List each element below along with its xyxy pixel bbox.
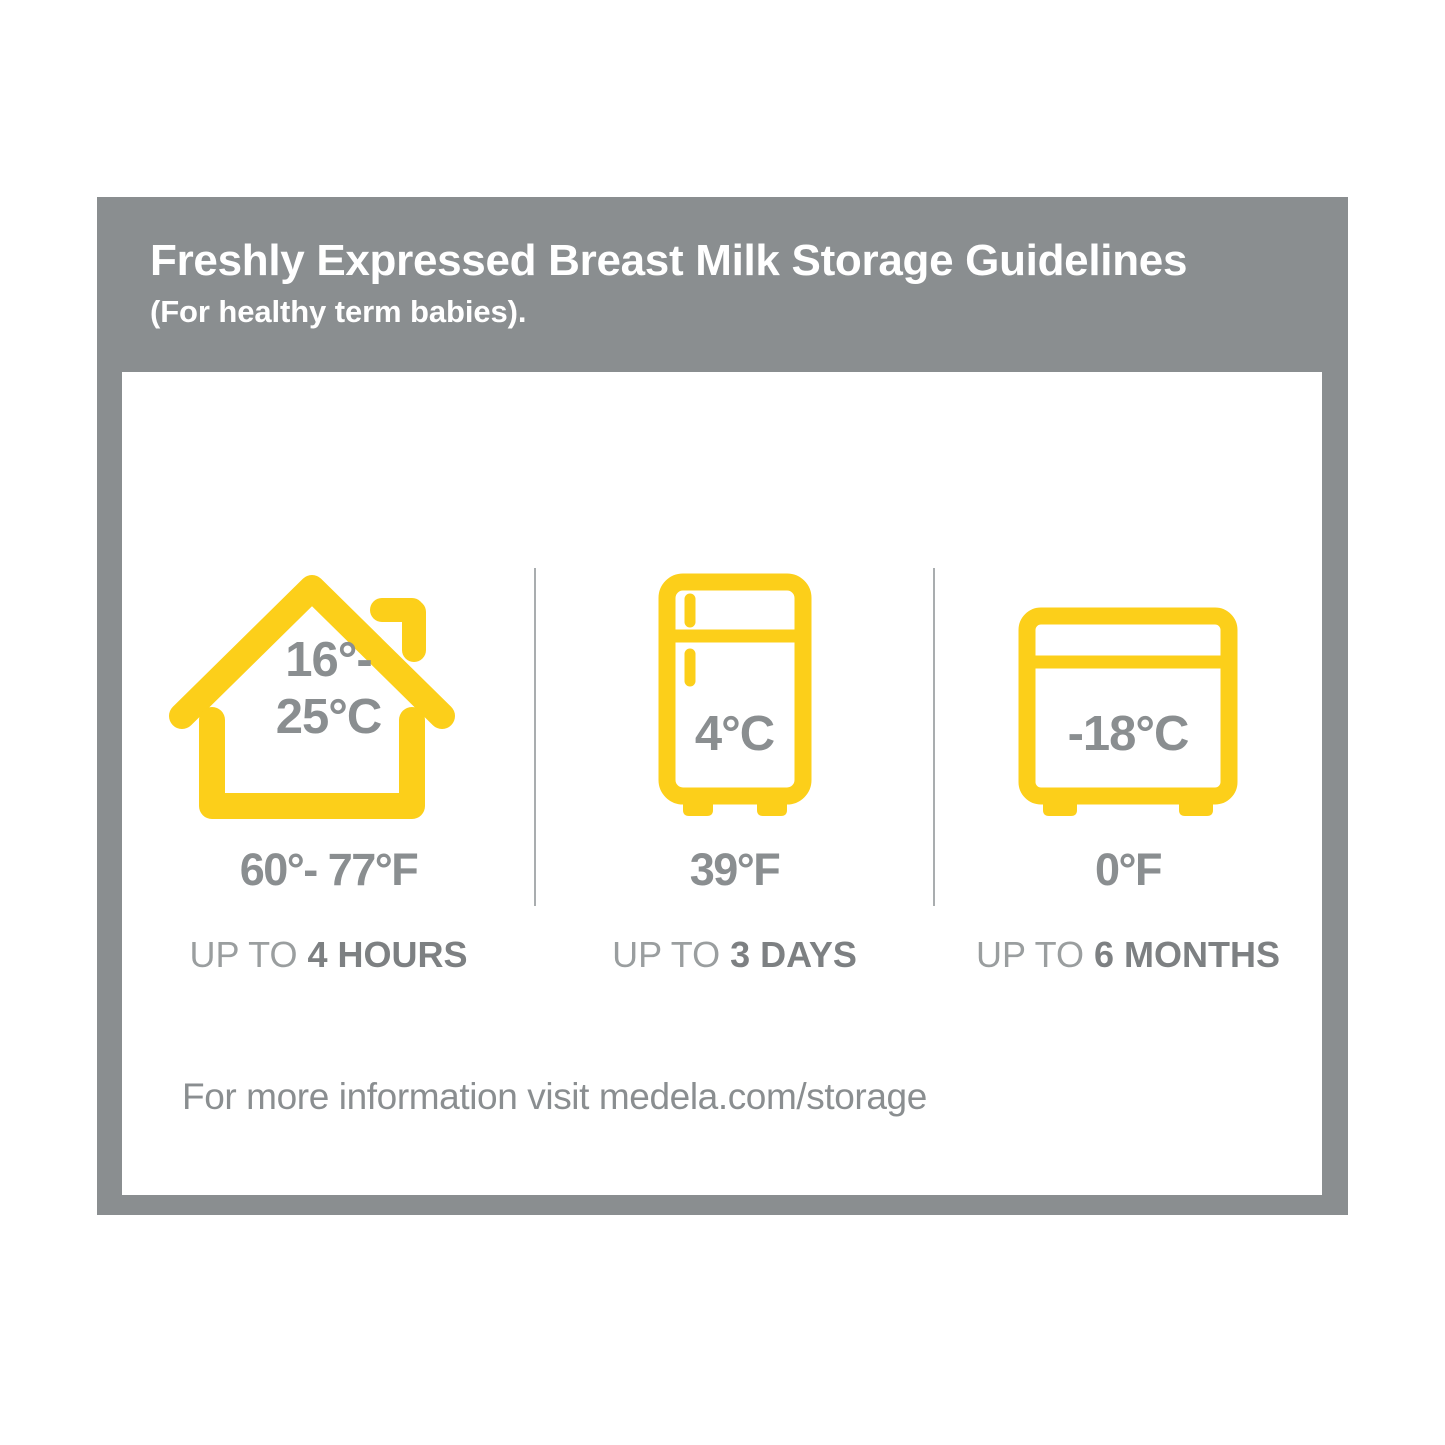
house-temperature-celsius: 16°- 25°C [122, 636, 535, 742]
refrigerator-temperature-celsius: 4°C [535, 710, 934, 759]
house-temp-line-2: 25°C [122, 693, 535, 742]
footer-info-text: For more information visit medela.com/st… [182, 1076, 927, 1118]
house-duration: UP TO 4 HOURS [122, 934, 535, 976]
freezer-duration-prefix: UP TO [976, 934, 1094, 975]
house-temp-line-1: 16°- [122, 636, 535, 685]
freezer-duration-value: 6 MONTHS [1094, 934, 1280, 975]
house-duration-value: 4 HOURS [308, 934, 468, 975]
house-duration-prefix: UP TO [189, 934, 307, 975]
refrigerator-icon-wrap [535, 568, 934, 828]
freezer-icon [1013, 568, 1243, 828]
refrigerator-duration-value: 3 DAYS [730, 934, 857, 975]
storage-columns: 16°- 25°C 60°- 77°F UP TO 4 HOURS [122, 372, 1322, 1195]
freezer-icon-wrap [934, 568, 1322, 828]
storage-column-freezer: -18°C 0°F UP TO 6 MONTHS [934, 372, 1322, 1195]
storage-column-room-temperature: 16°- 25°C 60°- 77°F UP TO 4 HOURS [122, 372, 535, 1195]
freezer-temperature-fahrenheit: 0°F [934, 844, 1322, 896]
refrigerator-icon [645, 568, 825, 828]
refrigerator-duration: UP TO 3 DAYS [535, 934, 934, 976]
storage-column-refrigerator: 4°C 39°F UP TO 3 DAYS [535, 372, 934, 1195]
page-subtitle: (For healthy term babies). [150, 294, 1310, 330]
infographic-root: Freshly Expressed Breast Milk Storage Gu… [0, 0, 1445, 1445]
freezer-duration: UP TO 6 MONTHS [934, 934, 1322, 976]
refrigerator-duration-prefix: UP TO [612, 934, 730, 975]
page-title: Freshly Expressed Breast Milk Storage Gu… [150, 238, 1310, 284]
refrigerator-temp-line-1: 4°C [535, 710, 934, 759]
freezer-temp-line-1: -18°C [934, 710, 1322, 759]
refrigerator-temperature-fahrenheit: 39°F [535, 844, 934, 896]
freezer-temperature-celsius: -18°C [934, 710, 1322, 759]
house-temperature-fahrenheit: 60°- 77°F [122, 844, 535, 896]
header: Freshly Expressed Breast Milk Storage Gu… [150, 238, 1310, 330]
